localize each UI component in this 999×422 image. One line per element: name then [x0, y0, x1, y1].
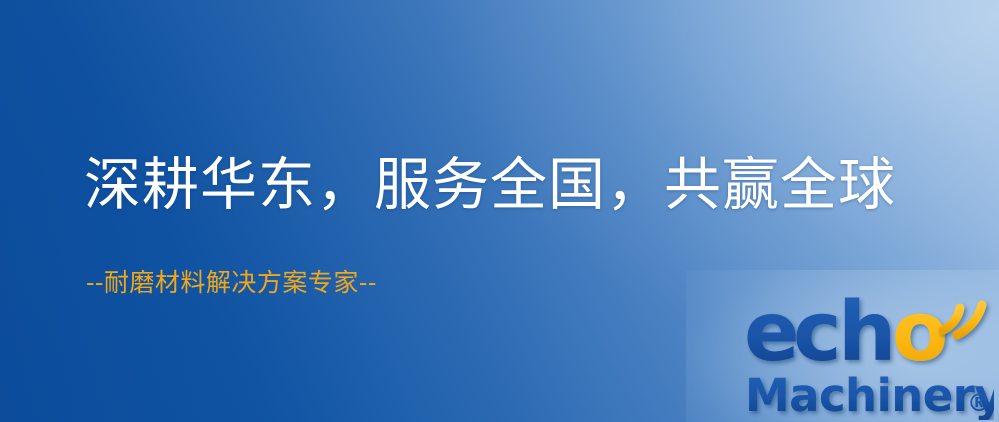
echo-wave-icon [943, 305, 982, 335]
banner-subtitle: --耐磨材料解决方案专家-- [86, 267, 377, 298]
svg-text:h: h [838, 296, 894, 380]
hero-banner: 深耕华东，服务全国，共赢全球 --耐磨材料解决方案专家-- [0, 0, 999, 422]
logo-subname-machinery: Machinery ® [745, 369, 994, 420]
svg-text:e: e [744, 296, 798, 380]
banner-headline: 深耕华东，服务全国，共赢全球 [84, 152, 954, 218]
logo-wordmark-echo: e c h o [744, 296, 946, 380]
echo-machinery-logo[interactable]: e c h o Machinery ® [744, 296, 994, 420]
svg-text:c: c [793, 296, 840, 380]
registered-trademark-icon: ® [967, 389, 991, 417]
svg-text:o: o [892, 296, 946, 380]
svg-text:Machinery: Machinery [745, 369, 994, 420]
